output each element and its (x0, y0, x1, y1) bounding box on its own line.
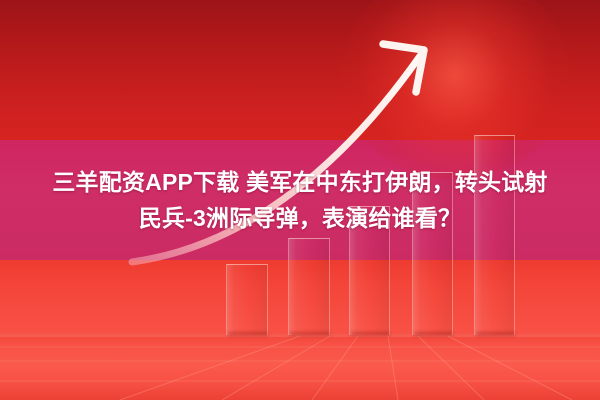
background-band-top (0, 0, 600, 140)
headline-line-2: 民兵-3洲际导弹，表演给谁看？ (0, 200, 600, 236)
banner-image: 三羊配资APP下载 美军在中东打伊朗，转头试射 民兵-3洲际导弹，表演给谁看？ (0, 0, 600, 400)
headline-line-1: 三羊配资APP下载 美军在中东打伊朗，转头试射 (0, 164, 600, 200)
perspective-grid-floor (0, 334, 600, 400)
floor-grid-lines (0, 334, 600, 400)
headline: 三羊配资APP下载 美军在中东打伊朗，转头试射 民兵-3洲际导弹，表演给谁看？ (0, 164, 600, 236)
